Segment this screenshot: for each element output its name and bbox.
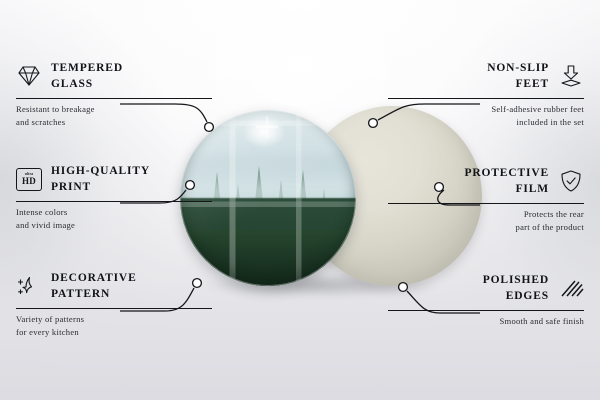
feature-title: TEMPERED GLASS <box>51 60 123 93</box>
diamond-icon <box>16 63 42 89</box>
feature-description: Self-adhesive rubber feet included in th… <box>388 103 584 129</box>
divider <box>16 308 212 309</box>
press-down-arrow-icon <box>558 63 584 89</box>
feature-header: TEMPERED GLASS <box>16 60 212 93</box>
feature-header: PROTECTIVE FILM <box>388 165 584 198</box>
feature-header: ultra HD HIGH-QUALITY PRINT <box>16 163 212 196</box>
feature-header: DECORATIVE PATTERN <box>16 270 212 303</box>
feature-title: NON-SLIP FEET <box>487 60 549 93</box>
feature-header: POLISHED EDGES <box>388 272 584 305</box>
divider <box>388 203 584 204</box>
feature-title: PROTECTIVE FILM <box>464 165 549 198</box>
feature-description: Variety of patterns for every kitchen <box>16 313 212 339</box>
divider <box>16 201 212 202</box>
feature-description: Resistant to breakage and scratches <box>16 103 212 129</box>
feature-decorative-pattern: DECORATIVE PATTERN Variety of patterns f… <box>16 270 212 339</box>
divider <box>16 98 212 99</box>
feature-title: DECORATIVE PATTERN <box>51 270 137 303</box>
infographic-canvas: TEMPERED GLASS Resistant to breakage and… <box>0 0 600 400</box>
ultra-hd-badge-icon: ultra HD <box>16 166 42 192</box>
diagonal-lines-icon <box>558 275 584 301</box>
feature-header: NON-SLIP FEET <box>388 60 584 93</box>
divider <box>388 310 584 311</box>
divider <box>388 98 584 99</box>
feature-polished-edges: POLISHED EDGES Smooth and safe finish <box>388 272 584 328</box>
feature-title: HIGH-QUALITY PRINT <box>51 163 150 196</box>
feature-protective-film: PROTECTIVE FILM Protects the rear part o… <box>388 165 584 234</box>
feature-description: Protects the rear part of the product <box>388 208 584 234</box>
feature-high-quality-print: ultra HD HIGH-QUALITY PRINT Intense colo… <box>16 163 212 232</box>
feature-title: POLISHED EDGES <box>483 272 549 305</box>
sparkles-icon <box>16 273 42 299</box>
feature-description: Intense colors and vivid image <box>16 206 212 232</box>
feature-tempered-glass: TEMPERED GLASS Resistant to breakage and… <box>16 60 212 129</box>
feature-non-slip-feet: NON-SLIP FEET Self-adhesive rubber feet … <box>388 60 584 129</box>
feature-description: Smooth and safe finish <box>388 315 584 328</box>
shield-check-icon <box>558 168 584 194</box>
